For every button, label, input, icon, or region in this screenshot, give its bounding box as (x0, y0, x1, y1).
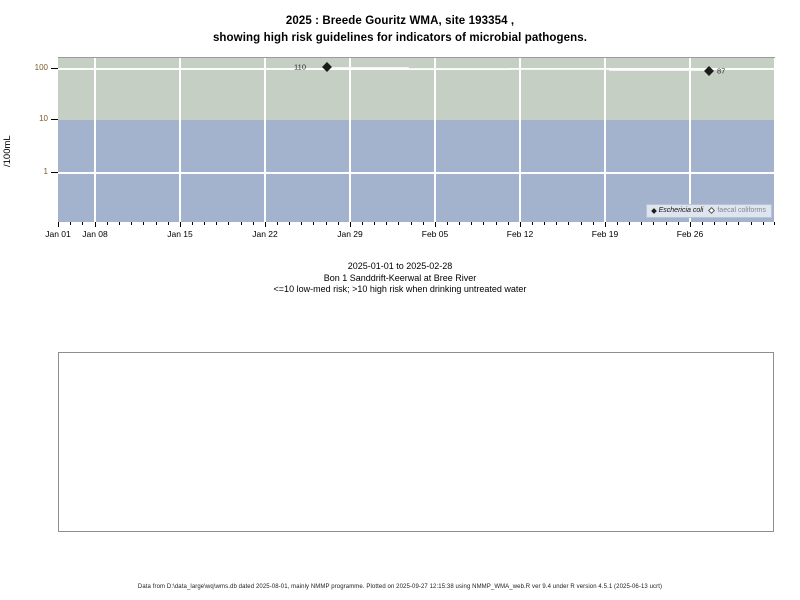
y-tick-100: 100 (0, 68, 58, 69)
gridline-y-1 (58, 172, 775, 174)
x-minor-tick (204, 222, 205, 225)
series-line-segment-2 (409, 68, 509, 69)
x-minor-tick (629, 222, 630, 225)
gridline-x-feb05 (434, 58, 436, 222)
x-axis-label-feb19: Feb 19 (592, 229, 618, 239)
x-minor-tick (241, 222, 242, 225)
x-minor-tick (301, 222, 302, 225)
x-minor-tick (702, 222, 703, 225)
x-minor-tick (216, 222, 217, 225)
x-minor-tick (556, 222, 557, 225)
x-minor-tick (326, 222, 327, 225)
x-minor-tick (544, 222, 545, 225)
x-minor-tick (726, 222, 727, 225)
x-minor-tick (508, 222, 509, 225)
x-minor-tick (496, 222, 497, 225)
x-minor-tick (119, 222, 120, 225)
x-tick-feb12 (520, 222, 521, 227)
x-axis-label-feb12: Feb 12 (507, 229, 533, 239)
x-axis-label-jan08: Jan 08 (82, 229, 108, 239)
x-minor-tick (774, 222, 775, 225)
caption-risk-note: <=10 low-med risk; >10 high risk when dr… (0, 284, 800, 296)
x-minor-tick (156, 222, 157, 225)
x-minor-tick (593, 222, 594, 225)
gridline-x-feb12 (519, 58, 521, 222)
chart-caption: 2025-01-01 to 2025-02-28 Bon 1 Sanddrift… (0, 261, 800, 296)
legend-item-faecal-coliforms[interactable]: faecal coliforms (709, 207, 766, 214)
x-tick-feb19 (605, 222, 606, 227)
gridline-x-jan08 (94, 58, 96, 222)
x-minor-tick (738, 222, 739, 225)
y-axis-label: /100mL (2, 153, 13, 167)
x-minor-tick (253, 222, 254, 225)
x-minor-tick (289, 222, 290, 225)
gridline-x-jan15 (179, 58, 181, 222)
data-point-label-110: 110 (294, 63, 306, 72)
x-minor-tick (70, 222, 71, 225)
x-minor-tick (313, 222, 314, 225)
x-axis: Jan 01 Jan 08 Jan 15 Jan 22 Jan 29 Feb 0… (58, 222, 775, 246)
x-minor-tick (751, 222, 752, 225)
filled-diamond-icon (651, 208, 657, 214)
title-line-1: 2025 : Breede Gouritz WMA, site 193354 , (0, 13, 800, 30)
x-minor-tick (459, 222, 460, 225)
series-line-segment-4 (609, 70, 709, 71)
legend-label-ecoli: Eschericia coli (659, 207, 704, 214)
page-title: 2025 : Breede Gouritz WMA, site 193354 ,… (0, 13, 800, 47)
chart-page: 2025 : Breede Gouritz WMA, site 193354 ,… (0, 0, 800, 600)
y-tick-1: 1 (0, 172, 58, 173)
x-minor-tick (447, 222, 448, 225)
x-axis-label-feb26: Feb 26 (677, 229, 703, 239)
x-tick-feb05 (435, 222, 436, 227)
series-line-segment-3 (509, 69, 609, 70)
x-minor-tick (362, 222, 363, 225)
x-minor-tick (131, 222, 132, 225)
open-diamond-icon (708, 207, 715, 214)
x-minor-tick (386, 222, 387, 225)
x-tick-feb26 (690, 222, 691, 227)
gridline-x-feb26 (689, 58, 691, 222)
x-minor-tick (483, 222, 484, 225)
caption-site-name: Bon 1 Sanddrift-Keerwal at Bree River (0, 273, 800, 285)
x-tick-jan01 (58, 222, 59, 227)
y-tick-10: 10 (0, 119, 58, 120)
x-axis-label-feb05: Feb 05 (422, 229, 448, 239)
y-axis: /100mL 100 10 1 (0, 57, 58, 222)
y-tick-label-100: 100 (35, 63, 48, 72)
series-line-segment-1 (327, 67, 409, 68)
gridline-x-right-edge (774, 58, 775, 222)
y-tick-label-1: 1 (44, 167, 48, 176)
x-minor-tick (568, 222, 569, 225)
x-minor-tick (714, 222, 715, 225)
gridline-x-feb19 (604, 58, 606, 222)
x-minor-tick (471, 222, 472, 225)
legend[interactable]: Eschericia coli faecal coliforms (646, 204, 772, 218)
x-minor-tick (192, 222, 193, 225)
data-point-label-87: 87 (717, 67, 725, 76)
footer-provenance: Data from D:\data_large\wq\wms.db dated … (0, 584, 800, 590)
x-minor-tick (338, 222, 339, 225)
gridline-x-jan22 (264, 58, 266, 222)
x-axis-label-jan15: Jan 15 (167, 229, 193, 239)
gridline-x-jan29 (349, 58, 351, 222)
x-minor-tick (398, 222, 399, 225)
x-tick-jan29 (350, 222, 351, 227)
x-minor-tick (532, 222, 533, 225)
x-minor-tick (82, 222, 83, 225)
main-plot-panel: 110 87 Eschericia coli faecal coliforms (58, 57, 775, 222)
x-axis-label-jan29: Jan 29 (337, 229, 363, 239)
x-tick-jan22 (265, 222, 266, 227)
x-minor-tick (411, 222, 412, 225)
x-minor-tick (143, 222, 144, 225)
x-minor-tick (678, 222, 679, 225)
x-tick-jan15 (180, 222, 181, 227)
caption-date-range: 2025-01-01 to 2025-02-28 (0, 261, 800, 273)
y-tick-label-10: 10 (39, 114, 48, 123)
x-minor-tick (763, 222, 764, 225)
x-minor-tick (641, 222, 642, 225)
x-minor-tick (581, 222, 582, 225)
x-minor-tick (107, 222, 108, 225)
x-minor-tick (277, 222, 278, 225)
x-axis-label-jan01: Jan 01 (45, 229, 71, 239)
x-tick-jan08 (95, 222, 96, 227)
x-axis-label-jan22: Jan 22 (252, 229, 278, 239)
x-minor-tick (374, 222, 375, 225)
legend-label-faecal-coliforms: faecal coliforms (717, 207, 766, 214)
x-minor-tick (666, 222, 667, 225)
x-minor-tick (168, 222, 169, 225)
x-minor-tick (228, 222, 229, 225)
plot-area: 110 87 Eschericia coli faecal coliforms (58, 57, 775, 222)
x-minor-tick (617, 222, 618, 225)
title-line-2: showing high risk guidelines for indicat… (0, 30, 800, 47)
secondary-empty-panel (58, 352, 774, 532)
x-minor-tick (653, 222, 654, 225)
x-minor-tick (423, 222, 424, 225)
legend-item-ecoli[interactable]: Eschericia coli (652, 207, 704, 214)
